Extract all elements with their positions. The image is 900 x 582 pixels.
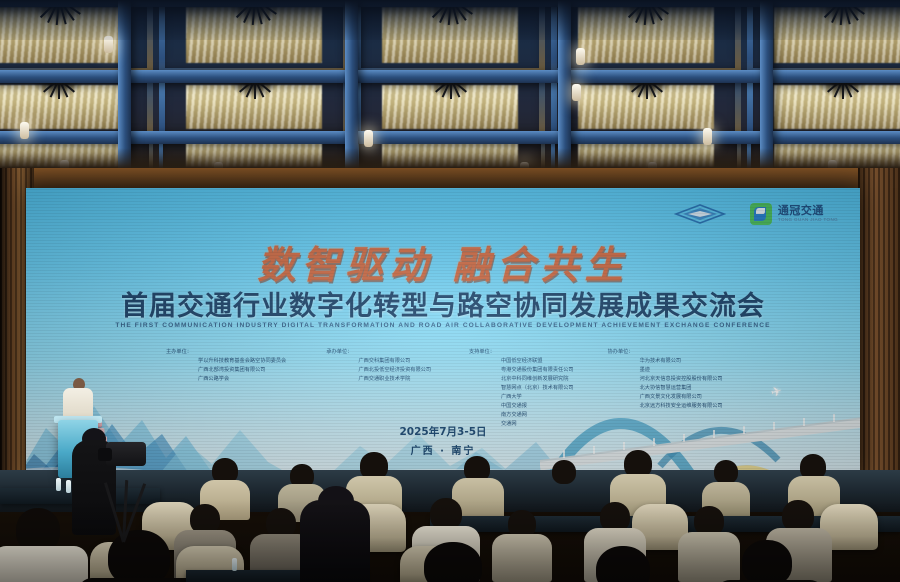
ceiling-downlight [20, 122, 29, 139]
video-camera [106, 442, 146, 466]
organizer-item: 广西交通职业技术学院 [326, 375, 457, 384]
organizer-item: 北京中科同维创新发展研究院 [469, 375, 596, 384]
partner-logo-en: TONG GUAN JIAO TONG [778, 218, 838, 223]
organizer-item: 粤港交通股份集团有限责任公司 [469, 366, 596, 375]
organizer-item: 广西文景文化发展有限公司 [608, 393, 756, 402]
emblem-logo [674, 202, 726, 226]
foreground-operator [300, 500, 370, 582]
organizer-item: 南方交通网 [469, 411, 596, 420]
organizer-item: 广西交科集团有限公司 [326, 357, 457, 366]
organizer-item: 墨迹 [608, 366, 756, 375]
organizer-item: 华为技术有限公司 [608, 357, 756, 366]
ceiling-downlight [572, 84, 581, 101]
ceiling [0, 0, 900, 182]
organizer-column-support: 支持单位： 中国低空经济联盟 粤港交通股份集团有限责任公司 北京中科同维创新发展… [469, 348, 596, 428]
conference-title-cn: 首届交通行业数字化转型与路空协同发展成果交流会 [26, 284, 860, 323]
organizer-column-host: 主办单位： 学以升科技教育基金会路空协同委员会 广西北部湾投资集团有限公司 广西… [166, 348, 314, 428]
screen-logos: 通冠交通 TONG GUAN JIAO TONG [674, 202, 838, 226]
organizer-label: 主办单位： [166, 348, 314, 357]
organizer-column-organizer: 承办单位： 广西交科集团有限公司 广西北投低空经济投资有限公司 广西交通职业技术… [326, 348, 457, 428]
organizer-column-coorganizer: 协办单位： 华为技术有限公司 墨迹 河北京天信息投资控股股份有限公司 北大协信智… [608, 348, 756, 428]
ceiling-downlight [364, 130, 373, 147]
water-bottle [66, 480, 71, 493]
organizer-label: 支持单位： [469, 348, 596, 357]
organizer-item: 河北京天信息投资控股股份有限公司 [608, 375, 756, 384]
ceiling-downlight [703, 128, 712, 145]
partner-logo-mark [750, 203, 772, 225]
organizer-item: 智慧网点（北京）技术有限公司 [469, 384, 596, 393]
partner-logo-cn: 通冠交通 [778, 205, 838, 216]
organizer-item: 广西北投低空经济投资有限公司 [326, 366, 457, 375]
organizer-item: 广西公路学会 [166, 375, 314, 384]
water-bottle [232, 558, 237, 571]
organizer-item: 中国交通报 [469, 402, 596, 411]
organizer-item: 北大协信智慧运营集团 [608, 384, 756, 393]
organizer-item: 学以升科技教育基金会路空协同委员会 [166, 357, 314, 366]
conference-photo: ✈ 通冠交通 TONG GUAN JIAO TONG [0, 0, 900, 582]
water-bottle [56, 478, 61, 491]
calligraphy-headline: 数智驱动 融合共生 [26, 234, 860, 289]
conference-title-en: THE FIRST COMMUNICATION INDUSTRY DIGITAL… [26, 322, 860, 329]
partner-logo: 通冠交通 TONG GUAN JIAO TONG [750, 203, 838, 225]
camera-lens [98, 448, 112, 461]
organizer-item: 广西北部湾投资集团有限公司 [166, 366, 314, 375]
organizer-item: 广西大学 [469, 393, 596, 402]
organizer-item: 中国低空经济联盟 [469, 357, 596, 366]
organizer-label: 协办单位： [608, 348, 756, 357]
organizer-item: 北京远方科技安全运维服务有限公司 [608, 402, 756, 411]
organizer-columns: 主办单位： 学以升科技教育基金会路空协同委员会 广西北部湾投资集团有限公司 广西… [166, 348, 756, 428]
ceiling-downlight [576, 48, 585, 65]
organizer-label: 承办单位： [326, 348, 457, 357]
